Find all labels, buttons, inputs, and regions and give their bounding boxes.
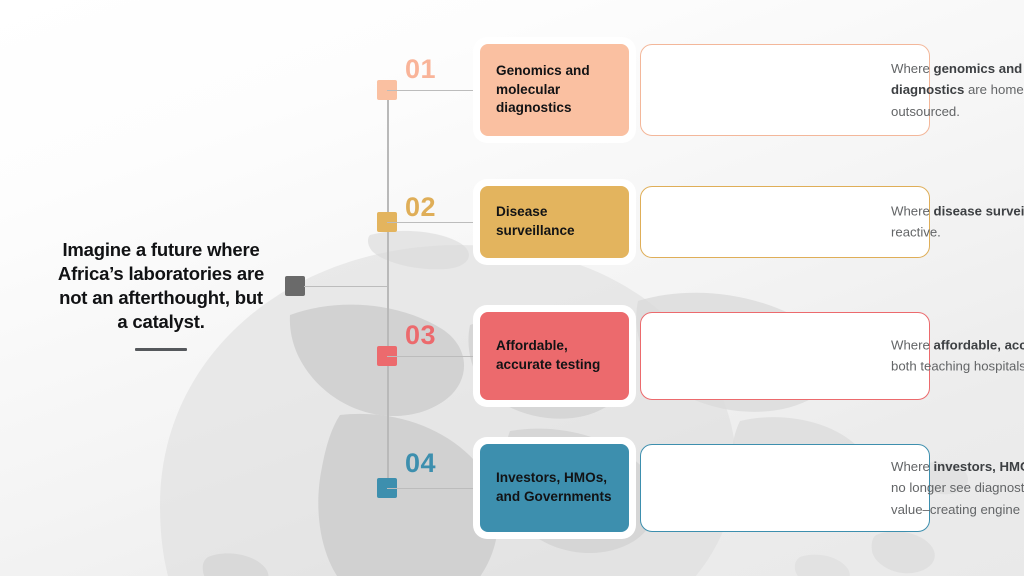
description-text-01: Where genomics and molecular diagnostics… xyxy=(891,58,1024,122)
timeline-number-04: 04 xyxy=(405,448,436,479)
description-emphasis-03: affordable, accurate testing xyxy=(934,338,1024,353)
timeline-connector-04 xyxy=(387,488,473,489)
timeline-connector-03 xyxy=(387,356,473,357)
description-card-04: Where investors, HMOs, and governments n… xyxy=(640,444,930,532)
description-emphasis-04: investors, HMOs, and governments xyxy=(934,459,1024,474)
slide-canvas: Imagine a future where Africa’s laborato… xyxy=(0,0,1024,576)
timeline-number-02: 02 xyxy=(405,192,436,223)
label-chip-03[interactable]: Affordable, accurate testing xyxy=(473,305,636,407)
description-text-04: Where investors, HMOs, and governments n… xyxy=(891,456,1024,520)
label-chip-02[interactable]: Disease surveillance xyxy=(473,179,636,265)
timeline-number-01: 01 xyxy=(405,54,436,85)
timeline-number-03: 03 xyxy=(405,320,436,351)
timeline-item-03[interactable]: 03 Where affordable, accurate testing re… xyxy=(405,312,950,400)
label-chip-fill-01: Genomics and molecular diagnostics xyxy=(480,44,629,136)
headline-timeline-marker xyxy=(285,276,305,296)
timeline-connector-01 xyxy=(387,90,473,91)
label-chip-01[interactable]: Genomics and molecular diagnostics xyxy=(473,37,636,143)
timeline-item-01[interactable]: 01 Where genomics and molecular diagnost… xyxy=(405,44,950,136)
description-lead-01: Where xyxy=(891,61,934,76)
label-chip-fill-04: Investors, HMOs, and Governments xyxy=(480,444,629,532)
description-card-02: Where disease surveillance is rapid, not… xyxy=(640,186,930,258)
label-chip-04[interactable]: Investors, HMOs, and Governments xyxy=(473,437,636,539)
label-text-02: Disease surveillance xyxy=(496,203,613,241)
timeline-item-04[interactable]: 04 Where investors, HMOs, and government… xyxy=(405,444,950,532)
headline-text: Imagine a future where Africa’s laborato… xyxy=(52,238,270,334)
label-chip-fill-02: Disease surveillance xyxy=(480,186,629,258)
label-text-01: Genomics and molecular diagnostics xyxy=(496,62,613,118)
description-text-02: Where disease surveillance is rapid, not… xyxy=(891,201,1024,244)
timeline-item-02[interactable]: 02 Where disease surveillance is rapid, … xyxy=(405,186,950,258)
description-card-03: Where affordable, accurate testing reach… xyxy=(640,312,930,400)
description-text-03: Where affordable, accurate testing reach… xyxy=(891,335,1024,378)
description-tail-04: no longer see diagnostics as a cost but … xyxy=(891,480,1024,516)
headline-connector-line xyxy=(304,286,388,287)
timeline-spine xyxy=(387,88,389,486)
label-text-04: Investors, HMOs, and Governments xyxy=(496,469,613,507)
label-text-03: Affordable, accurate testing xyxy=(496,337,613,375)
headline-divider xyxy=(135,348,187,351)
description-lead-03: Where xyxy=(891,338,934,353)
description-lead-04: Where xyxy=(891,459,934,474)
description-card-01: Where genomics and molecular diagnostics… xyxy=(640,44,930,136)
description-lead-02: Where xyxy=(891,204,934,219)
label-chip-fill-03: Affordable, accurate testing xyxy=(480,312,629,400)
description-emphasis-02: disease surveillance xyxy=(934,204,1024,219)
headline-block: Imagine a future where Africa’s laborato… xyxy=(52,238,270,351)
